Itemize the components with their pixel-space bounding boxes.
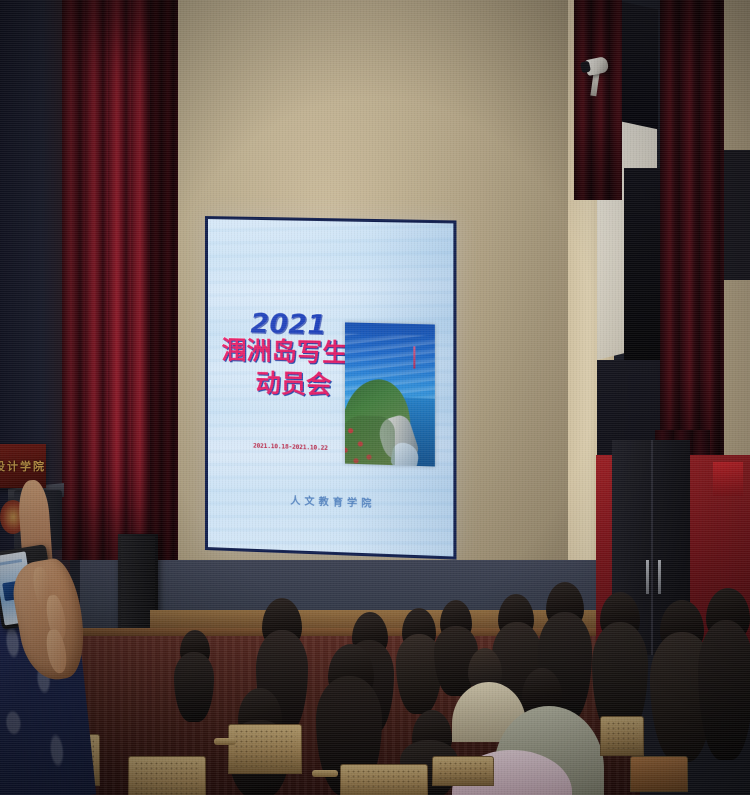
chair-perforation <box>606 721 638 749</box>
auditorium-chair[interactable] <box>228 724 302 774</box>
slide-title-line1: 涠洲岛写生 <box>220 337 349 366</box>
auditorium-chair[interactable] <box>340 764 428 795</box>
window-frame-right <box>722 150 750 280</box>
finger <box>44 628 69 674</box>
left-red-sign: 设计学院 <box>0 444 46 488</box>
auditorium-photo: 2021 涠洲岛写生 动员会 2021.10.18-2021.10.22 人文教… <box>0 0 750 795</box>
slide-date-range: 2021.10.18-2021.10.22 <box>232 442 349 453</box>
chair-armrest <box>214 738 236 745</box>
projection-screen[interactable]: 2021 涠洲岛写生 动员会 2021.10.18-2021.10.22 人文教… <box>205 216 456 560</box>
photo-accent-mark <box>413 347 416 369</box>
presentation-slide: 2021 涠洲岛写生 动员会 2021.10.18-2021.10.22 人文教… <box>208 219 453 556</box>
slide-title-line2: 动员会 <box>238 370 349 399</box>
chair-armrest <box>312 770 338 777</box>
auditorium-chair[interactable] <box>128 756 206 795</box>
left-sign-text: 设计学院 <box>0 458 46 474</box>
audience-hair <box>174 652 214 722</box>
chair-perforation <box>234 729 296 767</box>
screen-frame: 2021 涠洲岛写生 动员会 2021.10.18-2021.10.22 人文教… <box>205 216 456 560</box>
curtain-right-main <box>660 0 724 470</box>
curtain-left-inner <box>150 0 178 600</box>
chair-perforation <box>134 761 200 795</box>
chair-perforation <box>438 761 488 779</box>
auditorium-chair[interactable] <box>630 756 688 792</box>
slide-organization: 人文教育学院 <box>208 489 453 513</box>
auditorium-chair[interactable] <box>432 756 494 786</box>
slide-photo-island <box>345 322 435 466</box>
audience-area <box>0 560 750 795</box>
photo-flower-field <box>345 415 395 466</box>
chair-perforation <box>346 769 422 791</box>
auditorium-chair[interactable] <box>600 716 644 756</box>
audience-hair <box>698 620 750 760</box>
curtain-right-upper <box>574 0 622 200</box>
exit-sign <box>713 462 743 496</box>
phone-ui-bar <box>0 559 22 566</box>
